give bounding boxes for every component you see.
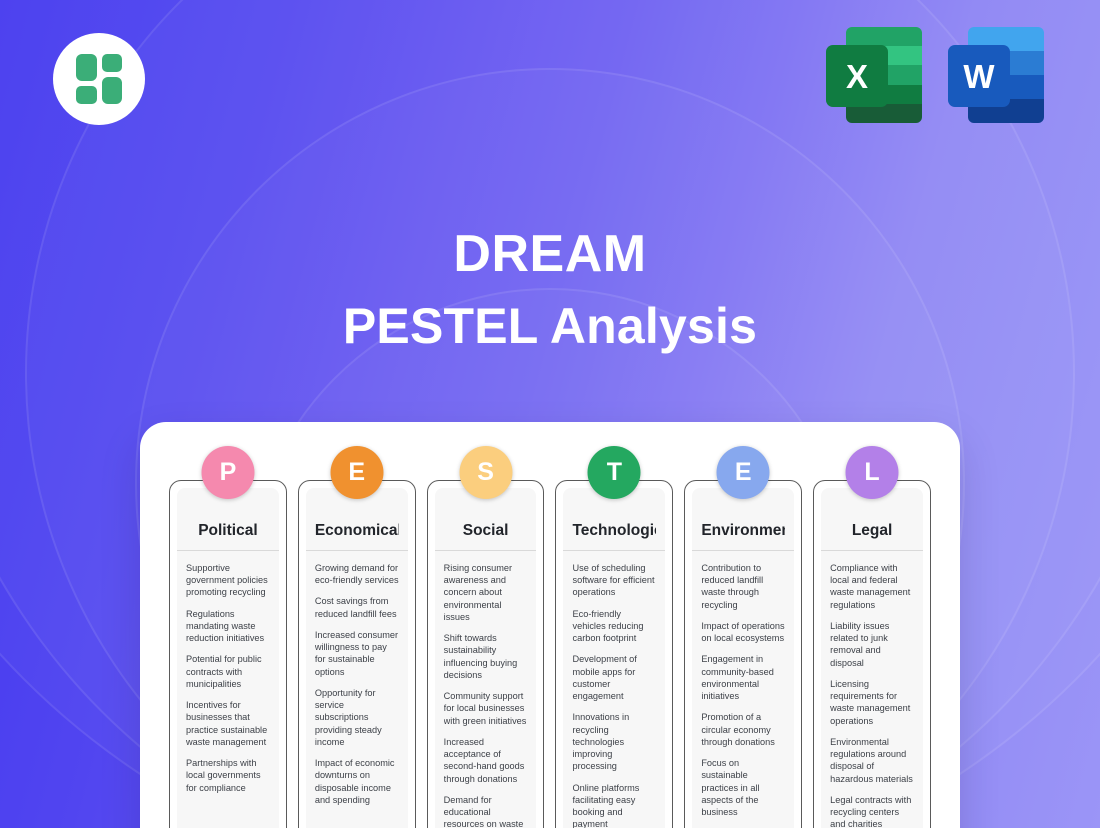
list-item: Eco-friendly vehicles reducing carbon fo… [572, 608, 656, 645]
list-item: Engagement in community-based environmen… [701, 653, 785, 702]
page-title: DREAM PESTEL Analysis [0, 224, 1100, 356]
column-divider [821, 550, 923, 551]
list-item: Demand for educational resources on wast… [444, 794, 528, 828]
list-item: Growing demand for eco-friendly services [315, 562, 399, 586]
list-item: Use of scheduling software for efficient… [572, 562, 656, 599]
list-item: Liability issues related to junk removal… [830, 620, 914, 669]
list-item: Potential for public contracts with muni… [186, 653, 270, 690]
list-item: Environmental regulations around disposa… [830, 736, 914, 785]
column-heading: Political [186, 522, 270, 540]
column-divider [306, 550, 408, 551]
logo-tile-3 [76, 86, 97, 104]
column-panel: PoliticalSupportive government policies … [177, 488, 279, 828]
grid-logo-icon [53, 33, 145, 125]
column-panel: SocialRising consumer awareness and conc… [435, 488, 537, 828]
word-icon[interactable]: W [948, 27, 1044, 123]
excel-icon[interactable]: X [826, 27, 922, 123]
list-item: Shift towards sustainability influencing… [444, 632, 528, 681]
column-divider [435, 550, 537, 551]
column-letter-badge: E [330, 446, 383, 499]
logo-tile-2 [102, 54, 123, 72]
column-letter-badge: E [717, 446, 770, 499]
list-item: Rising consumer awareness and concern ab… [444, 562, 528, 623]
column-letter-badge: S [459, 446, 512, 499]
list-item: Opportunity for service subscriptions pr… [315, 687, 399, 748]
column-item-list: Contribution to reduced landfill waste t… [701, 562, 785, 828]
column-item-list: Compliance with local and federal waste … [830, 562, 914, 828]
pestel-column-economical[interactable]: EEconomicalGrowing demand for eco-friend… [298, 480, 416, 828]
list-item: Partnerships with local governments for … [186, 757, 270, 794]
list-item: Impact of operations on local ecosystems [701, 620, 785, 644]
column-panel: EconomicalGrowing demand for eco-friendl… [306, 488, 408, 828]
list-item: Incentives for businesses that practice … [186, 699, 270, 748]
column-heading: Environment [701, 522, 785, 540]
list-item: Community support for local businesses w… [444, 690, 528, 727]
pestel-column-political[interactable]: PPoliticalSupportive government policies… [169, 480, 287, 828]
poster-canvas: X W DREAM PESTEL Analysis PPoliticalSupp… [0, 0, 1100, 828]
list-item: Cost savings from reduced landfill fees [315, 595, 399, 619]
list-item: Development of mobile apps for customer … [572, 653, 656, 702]
list-item: Increased acceptance of second-hand good… [444, 736, 528, 785]
list-item: Focus on sustainable practices in all as… [701, 757, 785, 818]
column-heading: Social [444, 522, 528, 540]
column-panel: TechnologicalUse of scheduling software … [563, 488, 665, 828]
title-line-1: DREAM [0, 224, 1100, 285]
list-item: Promotion of a circular economy through … [701, 711, 785, 748]
list-item: Regulations mandating waste reduction in… [186, 608, 270, 645]
pestel-columns: PPoliticalSupportive government policies… [169, 480, 931, 828]
column-item-list: Growing demand for eco-friendly services… [315, 562, 399, 828]
column-item-list: Use of scheduling software for efficient… [572, 562, 656, 828]
excel-badge-letter: X [826, 45, 888, 107]
pestel-column-technological[interactable]: TTechnologicalUse of scheduling software… [555, 480, 673, 828]
column-divider [177, 550, 279, 551]
list-item: Innovations in recycling technologies im… [572, 711, 656, 772]
list-item: Supportive government policies promoting… [186, 562, 270, 599]
pestel-column-legal[interactable]: LLegalCompliance with local and federal … [813, 480, 931, 828]
logo-tile-1 [76, 54, 97, 81]
column-letter-badge: T [588, 446, 641, 499]
list-item: Licensing requirements for waste managem… [830, 678, 914, 727]
logo-tile-4 [102, 77, 123, 104]
column-panel: LegalCompliance with local and federal w… [821, 488, 923, 828]
column-heading: Legal [830, 522, 914, 540]
list-item: Impact of economic downturns on disposab… [315, 757, 399, 806]
list-item: Legal contracts with recycling centers a… [830, 794, 914, 828]
list-item: Compliance with local and federal waste … [830, 562, 914, 611]
column-divider [692, 550, 794, 551]
column-panel: EnvironmentContribution to reduced landf… [692, 488, 794, 828]
column-letter-badge: P [201, 446, 254, 499]
pestel-column-environment[interactable]: EEnvironmentContribution to reduced land… [684, 480, 802, 828]
column-item-list: Supportive government policies promoting… [186, 562, 270, 828]
column-heading: Technological [572, 522, 656, 540]
pestel-column-social[interactable]: SSocialRising consumer awareness and con… [427, 480, 545, 828]
list-item: Contribution to reduced landfill waste t… [701, 562, 785, 611]
column-heading: Economical [315, 522, 399, 540]
list-item: Increased consumer willingness to pay fo… [315, 629, 399, 678]
column-item-list: Rising consumer awareness and concern ab… [444, 562, 528, 828]
title-line-2: PESTEL Analysis [0, 297, 1100, 356]
export-icons: X W [826, 27, 1044, 123]
pestel-board: PPoliticalSupportive government policies… [140, 422, 960, 828]
column-divider [563, 550, 665, 551]
word-badge-letter: W [948, 45, 1010, 107]
list-item: Online platforms facilitating easy booki… [572, 782, 656, 828]
column-letter-badge: L [846, 446, 899, 499]
